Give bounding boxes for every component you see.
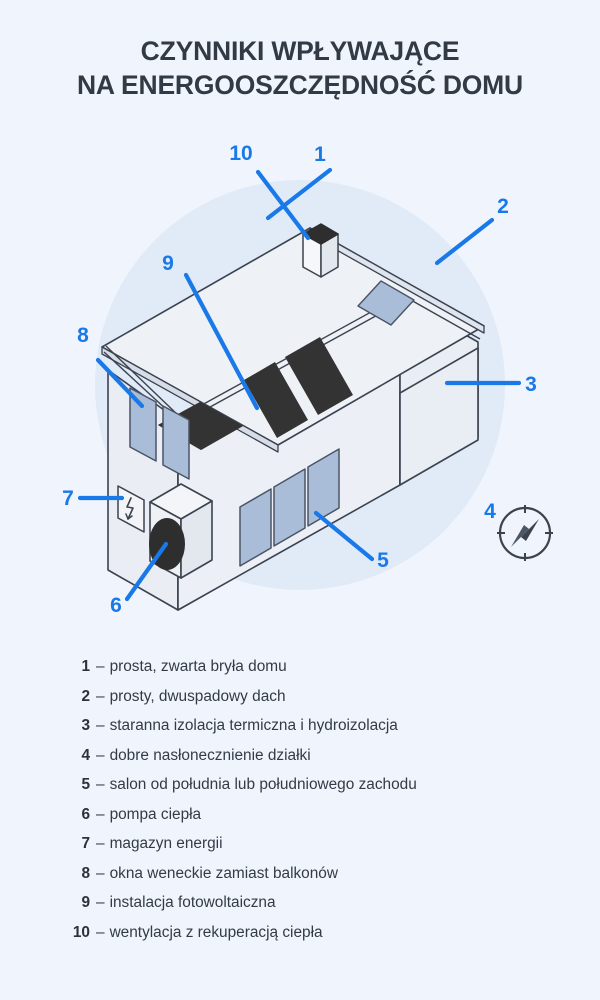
- infographic-page: CZYNNIKI WPŁYWAJĄCE NA ENERGOOSZCZĘDNOŚĆ…: [0, 0, 600, 1000]
- callout-number-7: 7: [62, 487, 74, 510]
- legend-number: 8: [66, 865, 90, 883]
- callout-number-2: 2: [497, 195, 509, 218]
- legend-number: 10: [66, 924, 90, 942]
- legend-dash: –: [90, 894, 110, 912]
- legend-dash: –: [90, 688, 110, 706]
- legend-label: okna weneckie zamiast balkonów: [110, 865, 338, 883]
- legend-item-5: 5 – salon od południa lub południowego z…: [66, 776, 566, 806]
- legend-item-4: 4 – dobre nasłonecznienie działki: [66, 747, 566, 777]
- legend-number: 5: [66, 776, 90, 794]
- legend-label: pompa ciepła: [110, 806, 202, 824]
- legend-item-9: 9 – instalacja fotowoltaiczna: [66, 894, 566, 924]
- legend-number: 3: [66, 717, 90, 735]
- legend-dash: –: [90, 835, 110, 853]
- legend-item-6: 6 – pompa ciepła: [66, 806, 566, 836]
- legend-dash: –: [90, 924, 110, 942]
- callout-number-10: 10: [229, 142, 252, 165]
- legend-dash: –: [90, 658, 110, 676]
- callout-number-6: 6: [110, 594, 122, 617]
- legend-dash: –: [90, 776, 110, 794]
- legend-label: magazyn energii: [110, 835, 223, 853]
- legend-label: dobre nasłonecznienie działki: [110, 747, 311, 765]
- callout-number-3: 3: [525, 373, 537, 396]
- page-title: CZYNNIKI WPŁYWAJĄCE NA ENERGOOSZCZĘDNOŚĆ…: [0, 34, 600, 102]
- legend-dash: –: [90, 865, 110, 883]
- legend-label: prosty, dwuspadowy dach: [110, 688, 286, 706]
- heat-pump-unit: [149, 484, 212, 578]
- callout-number-8: 8: [77, 324, 89, 347]
- legend-dash: –: [90, 806, 110, 824]
- legend-dash: –: [90, 747, 110, 765]
- callout-number-9: 9: [162, 252, 174, 275]
- legend-number: 6: [66, 806, 90, 824]
- title-line-2: NA ENERGOOSZCZĘDNOŚĆ DOMU: [0, 68, 600, 102]
- compass-rose: [497, 505, 553, 561]
- legend-dash: –: [90, 717, 110, 735]
- legend-item-8: 8 – okna weneckie zamiast balkonów: [66, 865, 566, 895]
- title-line-1: CZYNNIKI WPŁYWAJĄCE: [0, 34, 600, 68]
- house-illustration: 1 2 3 4 5 6 7 8 9 10: [0, 120, 600, 620]
- legend-item-2: 2 – prosty, dwuspadowy dach: [66, 688, 566, 718]
- legend-item-7: 7 – magazyn energii: [66, 835, 566, 865]
- legend-label: prosta, zwarta bryła domu: [110, 658, 287, 676]
- callout-number-1: 1: [314, 143, 326, 166]
- legend-label: instalacja fotowoltaiczna: [110, 894, 276, 912]
- legend-label: salon od południa lub południowego zacho…: [110, 776, 417, 794]
- legend-list: 1 – prosta, zwarta bryła domu 2 – prosty…: [66, 658, 566, 953]
- callout-number-5: 5: [377, 549, 389, 572]
- legend-label: wentylacja z rekuperacją ciepła: [110, 924, 323, 942]
- ventilation-chimney: [303, 224, 338, 277]
- legend-number: 4: [66, 747, 90, 765]
- legend-number: 9: [66, 894, 90, 912]
- legend-number: 1: [66, 658, 90, 676]
- legend-label: staranna izolacja termiczna i hydroizola…: [110, 717, 398, 735]
- legend-item-1: 1 – prosta, zwarta bryła domu: [66, 658, 566, 688]
- legend-item-3: 3 – staranna izolacja termiczna i hydroi…: [66, 717, 566, 747]
- legend-number: 7: [66, 835, 90, 853]
- callout-number-4: 4: [484, 500, 496, 523]
- legend-number: 2: [66, 688, 90, 706]
- legend-item-10: 10 – wentylacja z rekuperacją ciepła: [66, 924, 566, 954]
